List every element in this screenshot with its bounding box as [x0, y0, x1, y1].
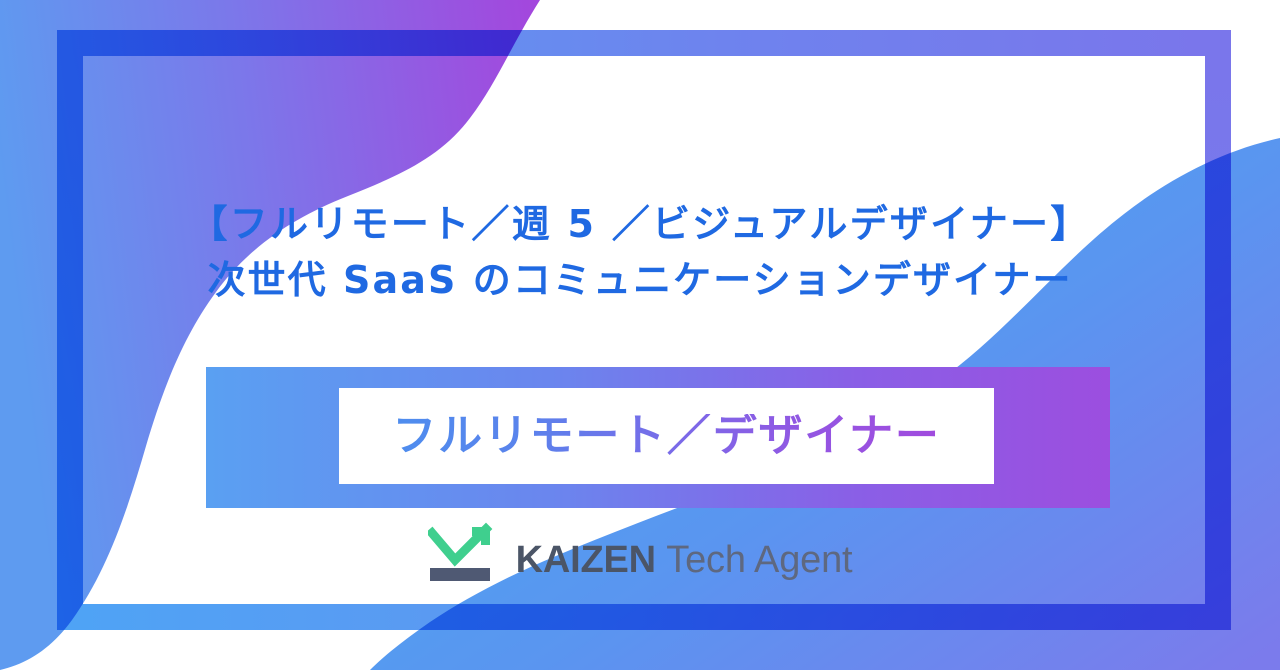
job-category-badge-inner: フルリモート／デザイナー: [339, 388, 994, 484]
job-category-badge-label: フルリモート／デザイナー: [392, 414, 940, 458]
headline-line-2: 次世代 SaaS のコミュニケーションデザイナー: [0, 252, 1280, 308]
growth-arrow-icon: [428, 521, 500, 583]
job-category-badge-bar: フルリモート／デザイナー: [206, 367, 1110, 508]
brand-suffix: Tech Agent: [666, 539, 852, 581]
card-content: 【フルリモート／週 5 ／ビジュアルデザイナー】 次世代 SaaS のコミュニケ…: [0, 0, 1280, 670]
ogp-card: 【フルリモート／週 5 ／ビジュアルデザイナー】 次世代 SaaS のコミュニケ…: [0, 0, 1280, 670]
page-title: 【フルリモート／週 5 ／ビジュアルデザイナー】 次世代 SaaS のコミュニケ…: [0, 196, 1280, 308]
brand-logo: KAIZEN Tech Agent: [0, 521, 1280, 583]
headline-line-1: 【フルリモート／週 5 ／ビジュアルデザイナー】: [0, 196, 1280, 252]
brand-name: KAIZEN: [516, 539, 656, 581]
brand-wordmark: KAIZEN Tech Agent: [516, 541, 853, 579]
